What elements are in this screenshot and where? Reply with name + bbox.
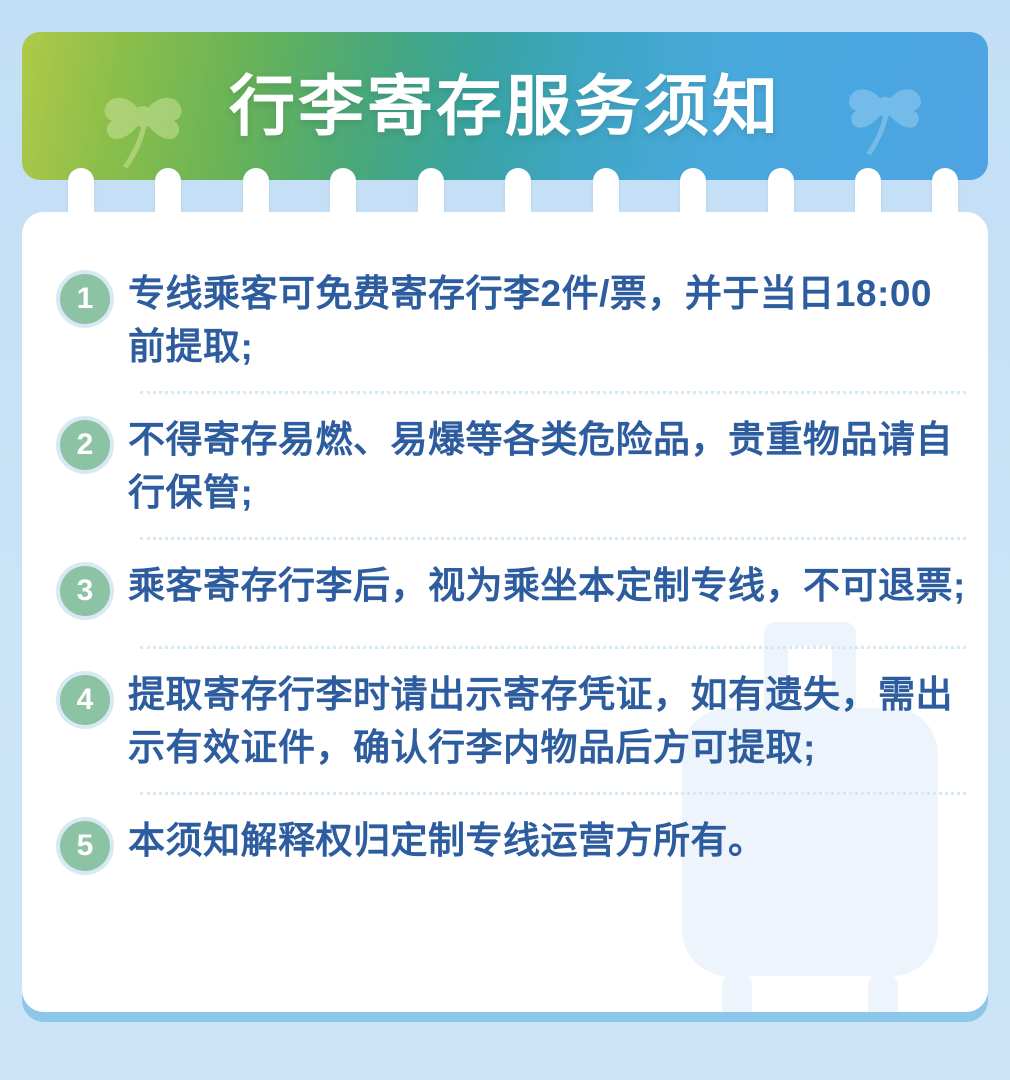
notice-card: 1 专线乘客可免费寄存行李2件/票，并于当日18:00前提取; 2 不得寄存易燃… bbox=[22, 212, 988, 1012]
header-banner: 行李寄存服务须知 bbox=[22, 32, 988, 180]
list-item: 4 提取寄存行李时请出示寄存凭证，如有遗失，需出示有效证件，确认行李内物品后方可… bbox=[50, 667, 966, 774]
list-divider bbox=[140, 792, 966, 795]
notebook-card: 行李寄存服务须知 bbox=[0, 0, 1010, 1080]
badge-number: 2 bbox=[60, 420, 110, 470]
badge-number: 4 bbox=[60, 675, 110, 725]
notice-text: 乘客寄存行李后，视为乘坐本定制专线，不可退票; bbox=[128, 558, 966, 613]
notice-text: 专线乘客可免费寄存行李2件/票，并于当日18:00前提取; bbox=[128, 266, 966, 373]
badge-number: 1 bbox=[60, 274, 110, 324]
notice-number-badge: 3 bbox=[50, 558, 122, 628]
list-divider bbox=[140, 391, 966, 394]
notice-text: 本须知解释权归定制专线运营方所有。 bbox=[128, 813, 966, 868]
notice-text: 不得寄存易燃、易爆等各类危险品，贵重物品请自行保管; bbox=[128, 412, 966, 519]
badge-number: 3 bbox=[60, 566, 110, 616]
notice-number-badge: 4 bbox=[50, 667, 122, 737]
list-item: 5 本须知解释权归定制专线运营方所有。 bbox=[50, 813, 966, 883]
list-item: 1 专线乘客可免费寄存行李2件/票，并于当日18:00前提取; bbox=[50, 266, 966, 373]
list-divider bbox=[140, 646, 966, 649]
page-title: 行李寄存服务须知 bbox=[22, 73, 988, 139]
notice-number-badge: 1 bbox=[50, 266, 122, 336]
notice-number-badge: 5 bbox=[50, 813, 122, 883]
notice-list: 1 专线乘客可免费寄存行李2件/票，并于当日18:00前提取; 2 不得寄存易燃… bbox=[22, 212, 988, 883]
notice-text: 提取寄存行李时请出示寄存凭证，如有遗失，需出示有效证件，确认行李内物品后方可提取… bbox=[128, 667, 966, 774]
list-divider bbox=[140, 537, 966, 540]
badge-number: 5 bbox=[60, 821, 110, 871]
list-item: 2 不得寄存易燃、易爆等各类危险品，贵重物品请自行保管; bbox=[50, 412, 966, 519]
list-item: 3 乘客寄存行李后，视为乘坐本定制专线，不可退票; bbox=[50, 558, 966, 628]
notice-number-badge: 2 bbox=[50, 412, 122, 482]
